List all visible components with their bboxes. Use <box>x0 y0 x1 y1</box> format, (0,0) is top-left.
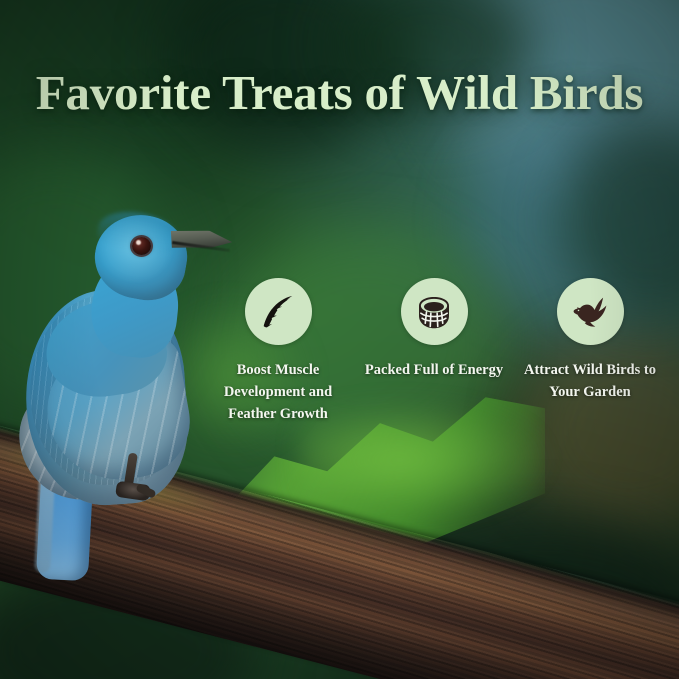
feature-label: Packed Full of Energy <box>365 359 503 381</box>
feature-icon-circle <box>557 278 624 345</box>
feather-icon <box>259 293 297 331</box>
feature-label: Attract Wild Birds to Your Garden <box>515 359 665 403</box>
feature-label: Boost Muscle Development and Feather Gro… <box>203 359 353 425</box>
feature-list: Boost Muscle Development and Feather Gro… <box>200 278 670 425</box>
feature-item-energy: Packed Full of Energy <box>356 278 512 381</box>
product-banner: Favorite Treats of Wild Birds Boost Musc… <box>0 0 679 679</box>
flying-bird-icon <box>569 291 611 333</box>
bird-eye-glint <box>136 240 141 245</box>
feature-item-attract-birds: Attract Wild Birds to Your Garden <box>512 278 668 403</box>
page-title: Favorite Treats of Wild Birds <box>0 68 679 117</box>
bird-eye <box>132 237 151 255</box>
feature-item-feather: Boost Muscle Development and Feather Gro… <box>200 278 356 425</box>
feature-icon-circle <box>245 278 312 345</box>
feature-icon-circle <box>401 278 468 345</box>
suet-ball-icon <box>414 292 454 332</box>
